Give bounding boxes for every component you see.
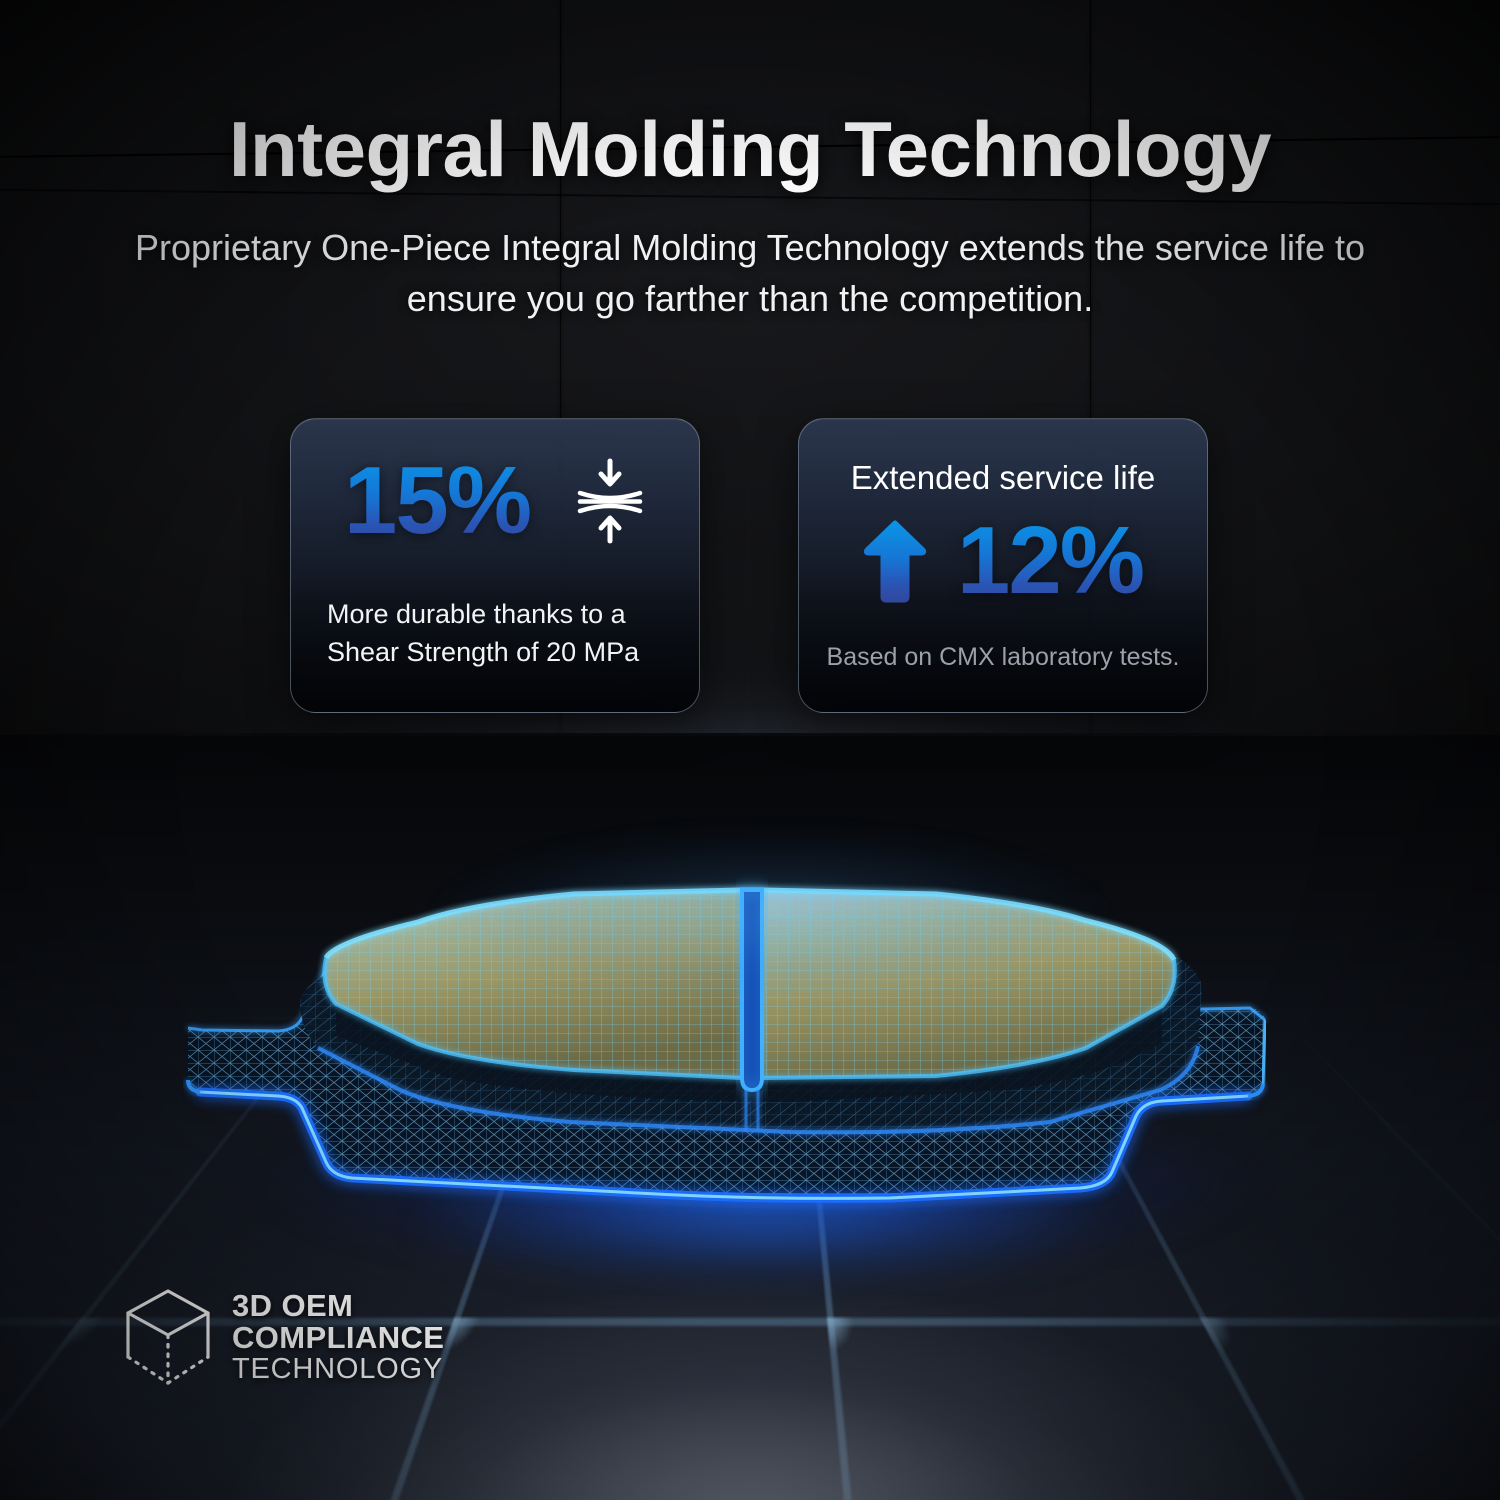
- brand-logo-text: 3D OEM COMPLIANCE TECHNOLOGY: [232, 1290, 444, 1385]
- durability-caption-line1: More durable thanks to a: [327, 595, 663, 633]
- up-arrow-icon: [863, 519, 927, 603]
- durability-caption-line2: Shear Strength of 20 MPa: [327, 633, 663, 671]
- stat-card-durability: 15% Mo: [290, 418, 700, 713]
- durability-caption: More durable thanks to a Shear Strength …: [291, 595, 699, 672]
- service-life-title: Extended service life: [799, 459, 1207, 497]
- isometric-cube-icon: [122, 1285, 214, 1389]
- durability-percentage: 15%: [344, 457, 530, 545]
- logo-line-3: TECHNOLOGY: [232, 1354, 444, 1384]
- page-title: Integral Molding Technology: [0, 104, 1500, 195]
- service-life-footnote: Based on CMX laboratory tests.: [799, 643, 1207, 672]
- stat-card-service-life: Extended service life 12% Based: [798, 418, 1208, 713]
- logo-line-2: COMPLIANCE: [232, 1322, 444, 1354]
- horizon-line: [0, 733, 1500, 736]
- promo-graphic: Integral Molding Technology Proprietary …: [0, 0, 1500, 1500]
- brand-logo: 3D OEM COMPLIANCE TECHNOLOGY: [122, 1285, 444, 1389]
- brake-pad-render: [150, 790, 1360, 1230]
- service-life-stat-row: 12%: [799, 517, 1207, 605]
- brake-pad-top-glow: [350, 800, 1190, 1030]
- page-subtitle: Proprietary One-Piece Integral Molding T…: [105, 222, 1395, 324]
- compression-icon: [574, 455, 646, 547]
- service-life-percentage: 12%: [957, 517, 1143, 605]
- durability-stat-row: 15%: [291, 455, 699, 547]
- logo-line-1: 3D OEM: [232, 1290, 444, 1322]
